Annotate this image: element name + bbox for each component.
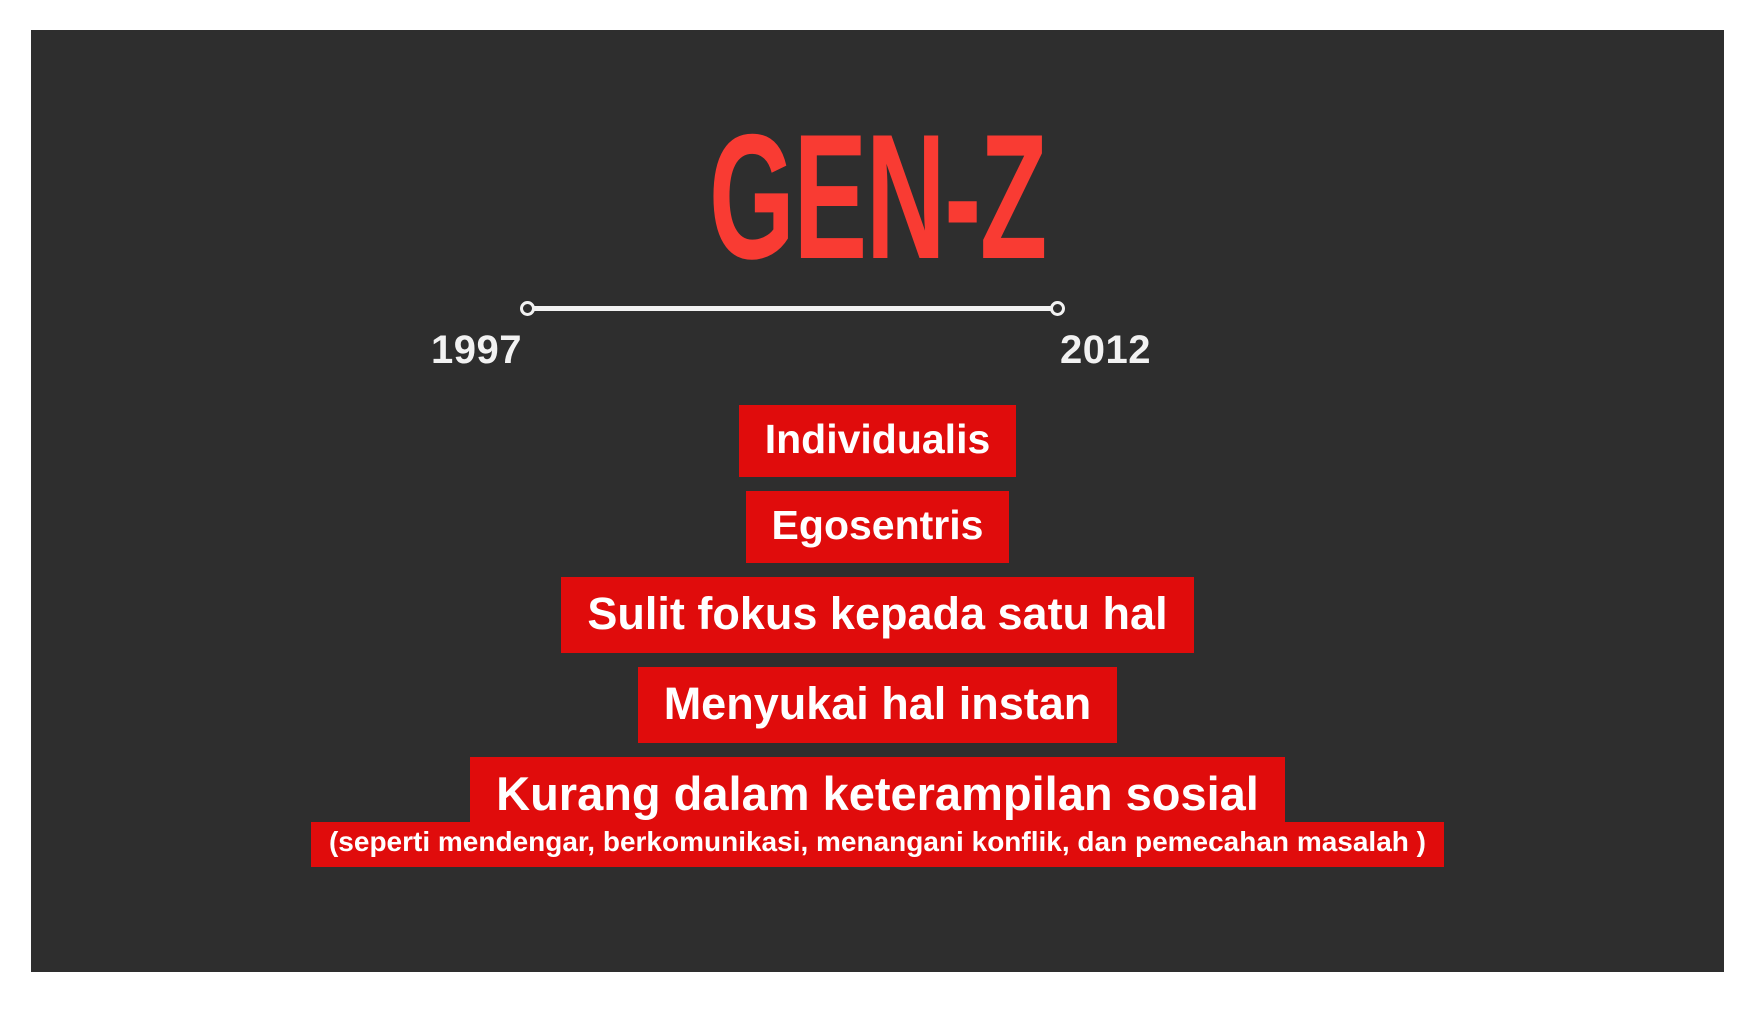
trait-item-egosentris: Egosentris [746,491,1010,563]
timeline-line [526,306,1059,311]
timeline-year-labels: 1997 2012 [431,328,1151,373]
trait-item-sulit-fokus: Sulit fokus kepada satu hal [561,577,1193,653]
slide-canvas-wrapper: GEN-Z 1997 2012 Individualis Egosentris … [0,0,1755,1015]
timeline-end-dot-icon [1050,301,1065,316]
trait-list: Individualis Egosentris Sulit fokus kepa… [31,405,1724,867]
trait-item-hal-instan: Menyukai hal instan [638,667,1118,743]
timeline-end-year: 2012 [1060,328,1151,373]
generation-timeline [520,298,1065,320]
trait-item-keterampilan-sosial-label: Kurang dalam keterampilan sosial [470,757,1285,830]
timeline-start-dot-icon [520,301,535,316]
trait-item-keterampilan-sosial-sublabel: (seperti mendengar, berkomunikasi, menan… [311,822,1444,867]
trait-item-keterampilan-sosial: Kurang dalam keterampilan sosial (sepert… [311,757,1444,867]
trait-item-individualis: Individualis [739,405,1017,477]
timeline-start-year: 1997 [431,328,522,373]
presentation-slide: GEN-Z 1997 2012 Individualis Egosentris … [31,30,1724,972]
page-title: GEN-Z [353,108,1403,286]
